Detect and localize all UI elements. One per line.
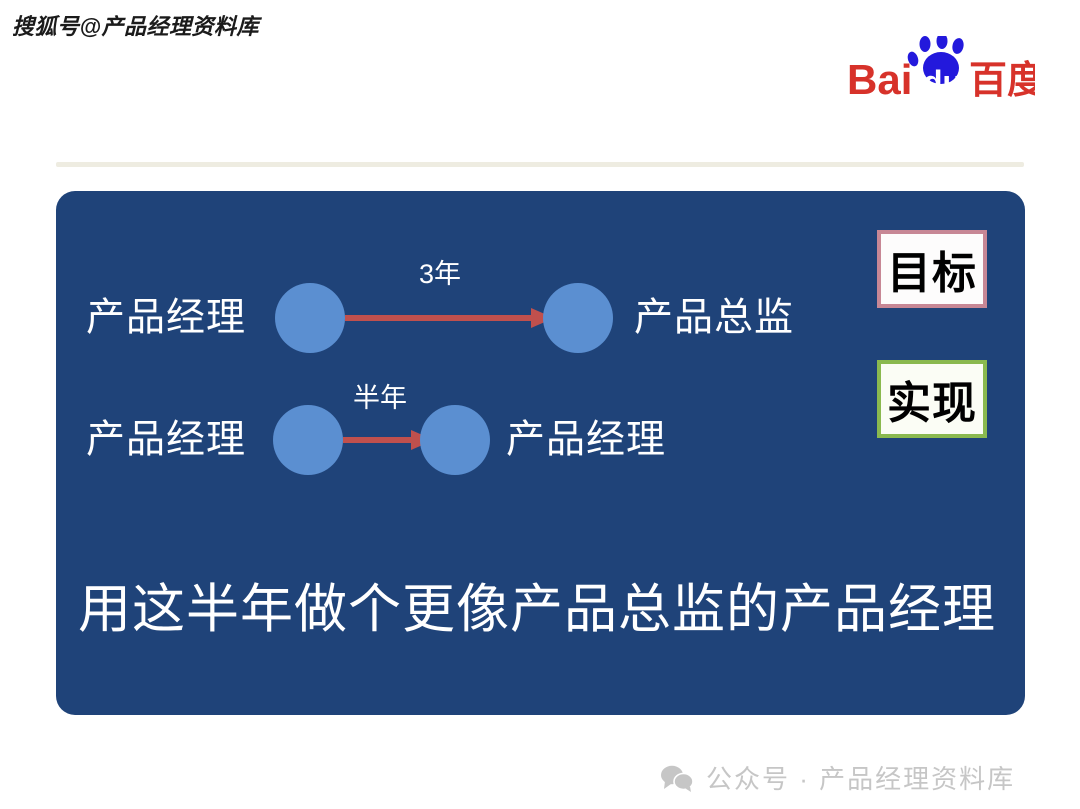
row2-start-node bbox=[273, 405, 343, 475]
panel-headline: 用这半年做个更像产品总监的产品经理 bbox=[78, 583, 996, 636]
sohu-watermark: 搜狐号@产品经理资料库 bbox=[12, 9, 259, 41]
footer-text: 公众号 · 产品经理资料库 bbox=[706, 759, 1015, 796]
content-panel: 产品经理 3年 产品总监 产品经理 半年 bbox=[56, 191, 1025, 715]
wechat-icon bbox=[660, 764, 694, 792]
row1-right-label: 产品总监 bbox=[634, 299, 794, 338]
row1-start-node bbox=[275, 283, 345, 353]
svg-text:Bai: Bai bbox=[847, 56, 912, 103]
svg-text:百度: 百度 bbox=[969, 60, 1035, 102]
baidu-logo: Bai du 百度 bbox=[845, 36, 1035, 106]
svg-text:du: du bbox=[923, 64, 962, 100]
badge-goal: 目标 bbox=[877, 230, 987, 308]
row2-right-label: 产品经理 bbox=[506, 421, 666, 460]
header-divider bbox=[56, 162, 1024, 167]
slide-page: 搜狐号@产品经理资料库 Bai du 百度 产品经理 bbox=[0, 0, 1080, 809]
row1-duration-label: 3年 bbox=[419, 261, 461, 288]
row1-left-label: 产品经理 bbox=[86, 299, 246, 338]
row2-left-label: 产品经理 bbox=[86, 421, 246, 460]
row2-end-node bbox=[420, 405, 490, 475]
row1-arrow-icon bbox=[345, 305, 555, 331]
row1-end-node bbox=[543, 283, 613, 353]
badge-achieve: 实现 bbox=[877, 360, 987, 438]
row2-duration-label: 半年 bbox=[353, 385, 407, 412]
footer: 公众号 · 产品经理资料库 bbox=[660, 759, 1015, 796]
